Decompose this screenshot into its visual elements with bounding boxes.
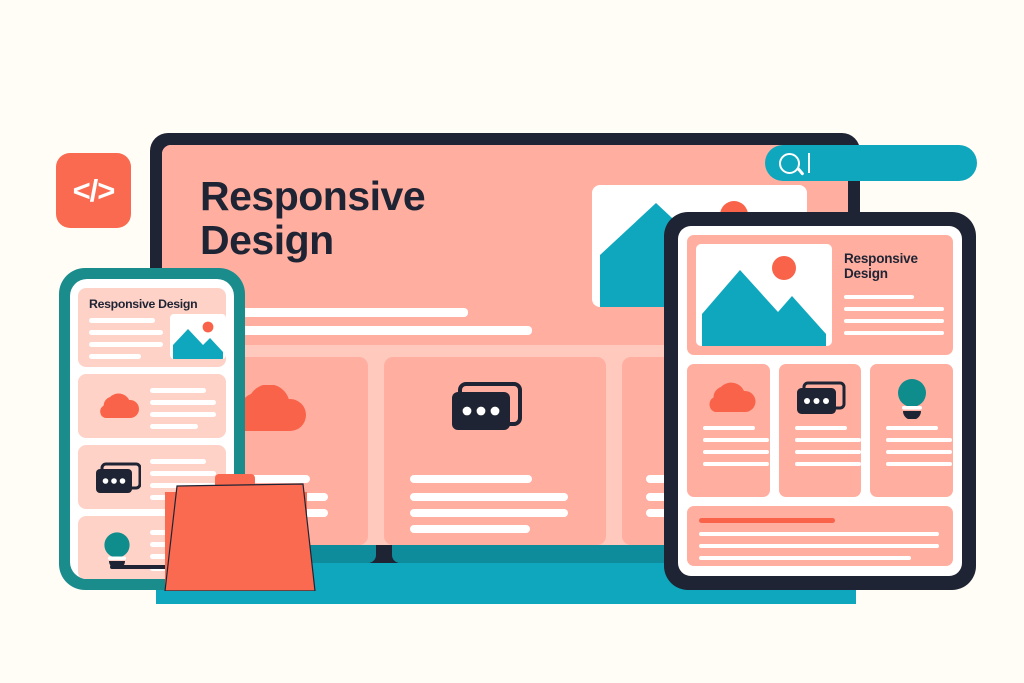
tablet-footer-accent-line	[699, 518, 835, 523]
tablet-card-line	[886, 426, 938, 430]
tablet-footer-card[interactable]	[687, 506, 953, 566]
tablet-feature-card[interactable]	[870, 364, 953, 497]
tablet-card-line	[703, 450, 769, 454]
tablet-page-title: Responsive Design	[844, 251, 918, 281]
phone-card-line	[150, 400, 216, 405]
phone-page-title: Responsive Design	[89, 297, 197, 311]
image-placeholder-icon	[170, 314, 226, 359]
tablet-footer-line	[699, 544, 939, 548]
phone-card-line	[150, 388, 206, 393]
tablet-hero-line	[844, 307, 944, 311]
tablet-hero-line	[844, 295, 914, 299]
phone-feature-card[interactable]	[78, 374, 226, 438]
phone-hero-image	[170, 314, 226, 359]
tablet-feature-card[interactable]	[687, 364, 770, 497]
bulb-icon	[100, 530, 134, 568]
search-icon	[779, 153, 800, 174]
tablet-hero-card[interactable]: Responsive Design	[687, 235, 953, 355]
phone-hero-card[interactable]: Responsive Design	[78, 288, 226, 367]
tablet-card-line	[795, 450, 861, 454]
chat-icon	[796, 381, 846, 415]
tablet-hero-image	[696, 244, 832, 346]
tablet-card-line	[886, 438, 952, 442]
tablet-card-line	[886, 462, 952, 466]
tablet-card-line	[795, 438, 861, 442]
tablet-footer-line	[699, 556, 911, 560]
code-badge[interactable]: </>	[56, 153, 131, 228]
desktop-subtitle-line	[200, 326, 532, 335]
tablet-footer-line	[699, 532, 939, 536]
desktop-feature-card[interactable]	[384, 357, 606, 545]
chat-icon	[95, 462, 141, 494]
desktop-card-line	[410, 525, 530, 533]
chat-icon	[450, 382, 522, 434]
text-cursor-icon	[808, 153, 810, 173]
tablet-card-line	[703, 438, 769, 442]
tablet-hero-line	[844, 331, 944, 335]
tablet-hero-line	[844, 319, 944, 323]
folder-icon[interactable]	[155, 466, 330, 591]
desktop-page-title: Responsive Design	[200, 175, 425, 263]
tablet-card-line	[703, 426, 755, 430]
phone-card-line	[150, 459, 206, 464]
search-bar[interactable]	[765, 145, 977, 181]
tablet-card-line	[795, 462, 861, 466]
tablet-feature-columns	[687, 364, 953, 497]
bulb-icon	[893, 377, 931, 419]
phone-card-line	[89, 354, 141, 359]
desktop-card-line	[410, 475, 532, 483]
illustration-canvas: Responsive Design	[0, 0, 1024, 683]
phone-card-line	[89, 342, 163, 347]
code-icon: </>	[73, 175, 115, 206]
tablet-card-line	[795, 426, 847, 430]
phone-card-line	[89, 318, 155, 323]
phone-card-line	[89, 330, 163, 335]
phone-card-line	[150, 412, 216, 417]
cloud-icon	[703, 382, 757, 414]
cloud-icon	[95, 392, 139, 420]
tablet-screen: Responsive Design	[678, 226, 962, 576]
phone-card-line	[150, 424, 198, 429]
image-placeholder-icon	[696, 244, 832, 346]
desktop-card-line	[410, 493, 568, 501]
tablet-card-line	[703, 462, 769, 466]
tablet-feature-card[interactable]	[779, 364, 862, 497]
tablet-card-line	[886, 450, 952, 454]
desktop-card-line	[410, 509, 568, 517]
